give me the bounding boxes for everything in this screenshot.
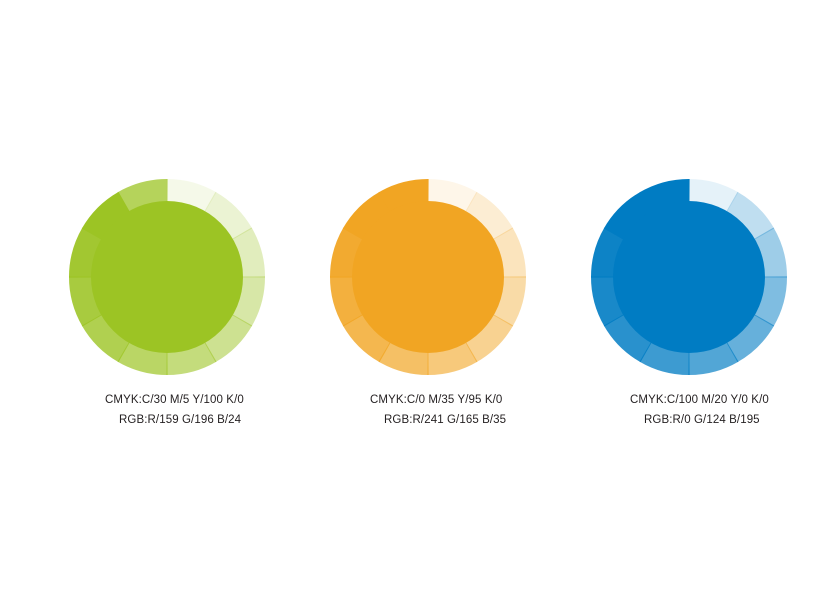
green-swatch-wheel-graphic (63, 173, 271, 381)
green-swatch-caption: CMYK:C/30 M/5 Y/100 K/0RGB:R/159 G/196 B… (105, 390, 244, 430)
blue-swatch-core-disc (613, 201, 765, 353)
orange-swatch-caption: CMYK:C/0 M/35 Y/95 K/0RGB:R/241 G/165 B/… (370, 390, 506, 430)
palette-canvas: CMYK:C/30 M/5 Y/100 K/0RGB:R/159 G/196 B… (0, 0, 838, 597)
blue-swatch-wheel[interactable] (585, 173, 793, 381)
green-swatch-cmyk-label: CMYK:C/30 M/5 Y/100 K/0 (105, 390, 244, 410)
blue-swatch-wheel-graphic (585, 173, 793, 381)
green-swatch-wheel[interactable] (63, 173, 271, 381)
blue-swatch-cmyk-label: CMYK:C/100 M/20 Y/0 K/0 (630, 390, 769, 410)
green-swatch-rgb-label: RGB:R/159 G/196 B/24 (105, 410, 244, 430)
blue-swatch-rgb-label: RGB:R/0 G/124 B/195 (630, 410, 769, 430)
orange-swatch-core-disc (352, 201, 504, 353)
orange-swatch-wheel-graphic (324, 173, 532, 381)
orange-swatch-cmyk-label: CMYK:C/0 M/35 Y/95 K/0 (370, 390, 506, 410)
green-swatch-core-disc (91, 201, 243, 353)
orange-swatch-wheel[interactable] (324, 173, 532, 381)
orange-swatch-rgb-label: RGB:R/241 G/165 B/35 (370, 410, 506, 430)
blue-swatch-caption: CMYK:C/100 M/20 Y/0 K/0RGB:R/0 G/124 B/1… (630, 390, 769, 430)
